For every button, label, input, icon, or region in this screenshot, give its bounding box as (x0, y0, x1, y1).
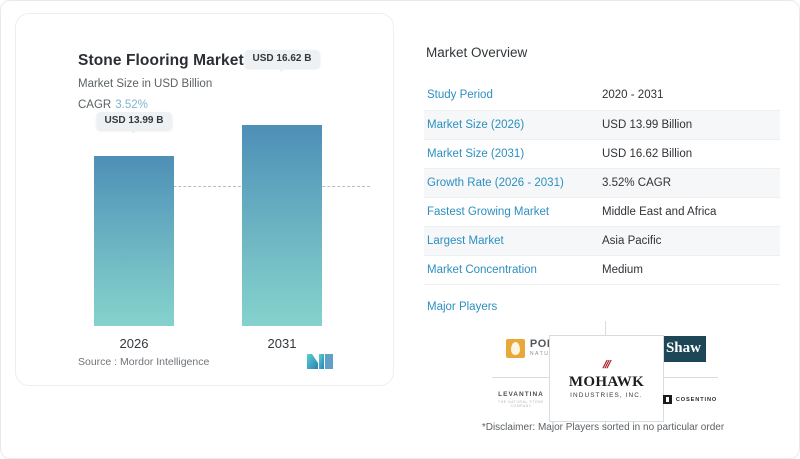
row-value: Middle East and Africa (599, 197, 780, 226)
source-text: Source : Mordor Intelligence (78, 356, 209, 368)
row-value: 2020 - 2031 (599, 81, 780, 110)
cosentino-mark-icon (663, 395, 672, 404)
chart-card: Stone Flooring Market Market Size in USD… (15, 13, 394, 386)
player-logo-mohawk: /// MOHAWK INDUSTRIES, INC. (549, 335, 664, 422)
source-row: Source : Mordor Intelligence (78, 354, 371, 369)
table-row: Market Size (2026) USD 13.99 Billion (424, 110, 780, 139)
table-row: Market Concentration Medium (424, 255, 780, 284)
table-row: Market Size (2031) USD 16.62 Billion (424, 139, 780, 168)
row-value: USD 16.62 Billion (599, 139, 780, 168)
levantina-tagline: THE NATURAL STONE COMPANY (496, 400, 546, 408)
row-key: Largest Market (424, 226, 599, 255)
screenshot-root: Stone Flooring Market Market Size in USD… (0, 0, 800, 459)
bar-chart-plot: USD 13.99 B 2026 USD 16.62 B 2031 (30, 124, 382, 354)
bar-2026[interactable] (94, 156, 174, 326)
bar-group-2031: USD 16.62 B 2031 (242, 125, 322, 326)
polycor-mark-icon (506, 339, 525, 358)
major-players-label: Major Players (427, 301, 782, 313)
levantina-name: LEVANTINA (496, 391, 546, 399)
table-row: Growth Rate (2026 - 2031) 3.52% CAGR (424, 168, 780, 197)
row-key: Fastest Growing Market (424, 197, 599, 226)
chart-subtitle: Market Size in USD Billion (78, 78, 212, 90)
row-key: Market Concentration (424, 255, 599, 284)
bar-group-2026: USD 13.99 B 2026 (94, 156, 174, 326)
mohawk-name: MOHAWK (569, 375, 644, 390)
row-value: USD 13.99 Billion (599, 110, 780, 139)
row-key: Growth Rate (2026 - 2031) (424, 168, 599, 197)
row-key: Market Size (2031) (424, 139, 599, 168)
table-row: Fastest Growing Market Middle East and A… (424, 197, 780, 226)
row-value: 3.52% CAGR (599, 168, 780, 197)
mordor-intelligence-logo (307, 354, 333, 369)
cagr-line: CAGR3.52% (78, 99, 148, 111)
cagr-label: CAGR (78, 99, 111, 111)
market-overview-table: Study Period 2020 - 2031 Market Size (20… (424, 81, 780, 285)
table-row: Largest Market Asia Pacific (424, 226, 780, 255)
bar-label-2031: 2031 (268, 336, 297, 351)
overview-title: Market Overview (426, 45, 782, 60)
bar-label-2026: 2026 (120, 336, 149, 351)
chart-title: Stone Flooring Market (78, 52, 244, 70)
market-overview-panel: Market Overview Study Period 2020 - 2031… (424, 13, 782, 448)
shaw-name: Shaw (666, 341, 701, 356)
major-players-logo-grid: POLYCOR NATURAL STONE Shaw /// MOHAWK IN… (492, 321, 718, 429)
bar-value-2026: USD 13.99 B (97, 112, 172, 130)
mohawk-tagline: INDUSTRIES, INC. (569, 393, 644, 399)
table-row: Study Period 2020 - 2031 (424, 81, 780, 110)
row-key: Market Size (2026) (424, 110, 599, 139)
bar-value-2031: USD 16.62 B (245, 50, 320, 68)
disclaimer-text: *Disclaimer: Major Players sorted in no … (424, 422, 782, 433)
row-value: Medium (599, 255, 780, 284)
mohawk-streaks-icon: /// (602, 360, 612, 371)
cagr-value: 3.52% (115, 99, 148, 111)
bar-2031[interactable] (242, 125, 322, 326)
player-logo-cosentino: COSENTINO (664, 383, 716, 417)
row-key: Study Period (424, 81, 599, 110)
player-logo-levantina: LEVANTINA THE NATURAL STONE COMPANY (496, 383, 546, 417)
row-value: Asia Pacific (599, 226, 780, 255)
cosentino-name: COSENTINO (676, 397, 717, 403)
